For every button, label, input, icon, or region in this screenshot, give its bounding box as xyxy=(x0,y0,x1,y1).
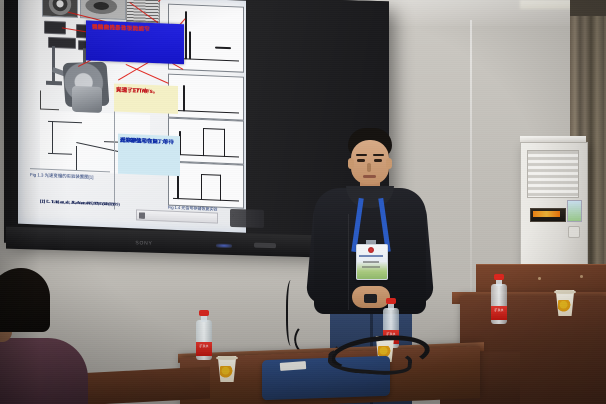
panel-screw-icon xyxy=(538,277,541,280)
optical-base xyxy=(46,81,62,86)
slideshow-toolbar[interactable] xyxy=(136,209,218,223)
bottle-cap xyxy=(494,274,504,280)
coordinate-axes xyxy=(40,91,59,111)
conference-room-photo: 强耦合光条件下的超窄透明窗口导致极陡的色散曲线。 实现了EIT中光速=17 m/… xyxy=(0,0,606,404)
reference-item-2: [2] C. Liu, et al., Nature 409, 490 (200… xyxy=(40,199,114,208)
optical-post-1 xyxy=(52,46,55,82)
ear-left xyxy=(348,158,354,169)
chamber-flange xyxy=(72,86,102,113)
power-led-icon xyxy=(216,244,232,248)
display-onscreen-controls[interactable] xyxy=(230,209,264,228)
badge-text-line-2 xyxy=(363,261,379,263)
curtain-rail xyxy=(570,0,606,16)
air-conditioner-button[interactable] xyxy=(568,226,580,238)
badge-text-line-1 xyxy=(359,255,383,257)
energy-rating-sticker xyxy=(567,200,582,222)
menu-icon[interactable] xyxy=(139,212,145,218)
badge-text-line-3 xyxy=(362,266,380,268)
nose xyxy=(367,163,371,172)
panel-screw-icon xyxy=(580,275,583,278)
air-vent-grille xyxy=(527,150,579,198)
eyebrow-left xyxy=(356,154,367,156)
air-conditioner-display xyxy=(533,211,560,217)
eye-left xyxy=(357,159,365,162)
ear-right xyxy=(386,158,392,169)
presentation-slide: 强耦合光条件下的超窄透明窗口导致极陡的色散曲线。 实现了EIT中光速=17 m/… xyxy=(18,0,246,233)
wall-seam xyxy=(470,20,472,310)
slide-divider-vertical xyxy=(114,107,115,209)
air-conditioner-brand xyxy=(532,201,560,205)
display-brand-logo: SONY xyxy=(124,240,164,248)
apparatus-photo-1 xyxy=(42,0,78,18)
ir-sensor-icon xyxy=(254,243,276,249)
plot-probe-pulse-1 xyxy=(168,74,244,121)
transition-arrow-1 xyxy=(52,121,53,153)
eyebrow-right xyxy=(373,154,384,156)
wall-shadow-bottom xyxy=(0,284,606,404)
mouth xyxy=(363,175,376,178)
transition-arrow-2 xyxy=(76,146,77,170)
badge-logo-icon xyxy=(368,247,374,253)
eye-right xyxy=(374,159,382,162)
